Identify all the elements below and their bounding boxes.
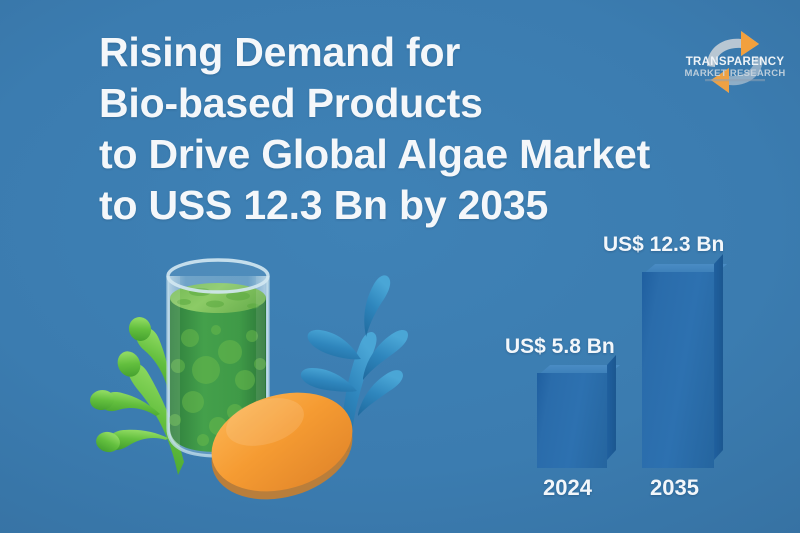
bar-2035-front-face — [642, 272, 714, 468]
bar-2024-side-face — [607, 355, 616, 460]
logo-text-transparency: TRANSPARENCY — [686, 56, 785, 68]
headline-line-1: Rising Demand for — [99, 27, 719, 78]
algae-illustration — [60, 240, 480, 510]
bar-2024-front-face — [537, 373, 607, 468]
bar-2024-value-label: US$ 5.8 Bn — [505, 335, 615, 359]
logo-underline — [705, 79, 765, 81]
bar-2035[interactable] — [642, 272, 714, 468]
headline-line-4: to USS 12.3 Bn by 2035 — [99, 180, 719, 231]
logo-text-market-research: MARKET RESEARCH — [684, 68, 785, 79]
market-size-bar-chart: US$ 5.8 Bn 2024 US$ 12.3 Bn 2035 — [495, 225, 795, 515]
bar-2024-category-label: 2024 — [543, 475, 592, 501]
transparency-market-research-logo: TRANSPARENCY MARKET RESEARCH — [683, 22, 787, 102]
bar-2035-category-label: 2035 — [650, 475, 699, 501]
headline-line-2: Bio-based Products — [99, 78, 719, 129]
infographic-canvas: Rising Demand for Bio-based Products to … — [0, 0, 800, 533]
bar-2035-value-label: US$ 12.3 Bn — [603, 233, 724, 257]
bar-2035-side-face — [714, 254, 723, 460]
bar-2024[interactable] — [537, 373, 607, 468]
page-title: Rising Demand for Bio-based Products to … — [99, 27, 719, 231]
headline-line-3: to Drive Global Algae Market — [99, 129, 719, 180]
